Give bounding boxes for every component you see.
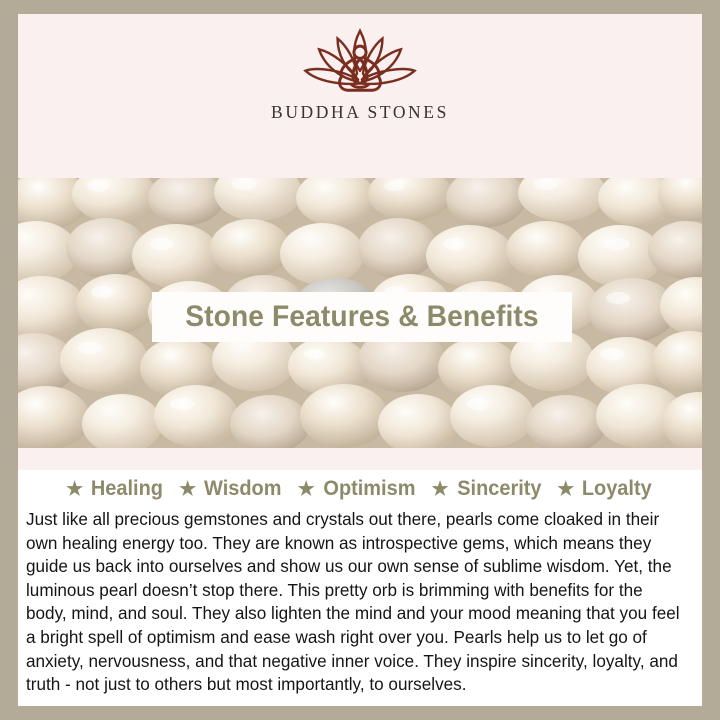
keyword-label: Wisdom	[204, 477, 281, 501]
benefits-section: ★ Healing ★ Wisdom ★ Optimism ★ Sincerit…	[18, 470, 702, 706]
section-title-banner: Stone Features & Benefits	[152, 292, 572, 342]
star-icon: ★	[557, 480, 574, 499]
star-icon: ★	[179, 480, 196, 499]
stone-description: Just like all precious gemstones and cry…	[26, 508, 684, 697]
keyword-item: ★ Wisdom	[179, 477, 284, 501]
keyword-label: Loyalty	[582, 477, 652, 501]
keyword-label: Healing	[91, 477, 163, 501]
divider-strip	[18, 448, 702, 470]
keyword-item: ★ Healing	[66, 477, 165, 501]
keyword-label: Optimism	[323, 477, 415, 501]
star-icon: ★	[432, 480, 449, 499]
outer-frame: BUDDHA STONES	[0, 0, 720, 720]
star-icon: ★	[298, 480, 315, 499]
keyword-list: ★ Healing ★ Wisdom ★ Optimism ★ Sincerit…	[18, 470, 702, 506]
lotus-meditation-figure-icon	[285, 22, 435, 100]
brand-name: BUDDHA STONES	[18, 102, 702, 123]
keyword-item: ★ Optimism	[298, 477, 418, 501]
info-card: BUDDHA STONES	[18, 14, 702, 706]
brand-logo: BUDDHA STONES	[18, 22, 702, 123]
page-title: Stone Features & Benefits	[185, 300, 538, 334]
pearl-pile-photo: Stone Features & Benefits Pearl	[18, 178, 702, 448]
keyword-item: ★ Sincerity	[432, 477, 544, 501]
star-icon: ★	[66, 480, 83, 499]
keyword-item: ★ Loyalty	[557, 477, 654, 501]
keyword-label: Sincerity	[457, 477, 541, 501]
header-area: BUDDHA STONES	[18, 14, 702, 178]
